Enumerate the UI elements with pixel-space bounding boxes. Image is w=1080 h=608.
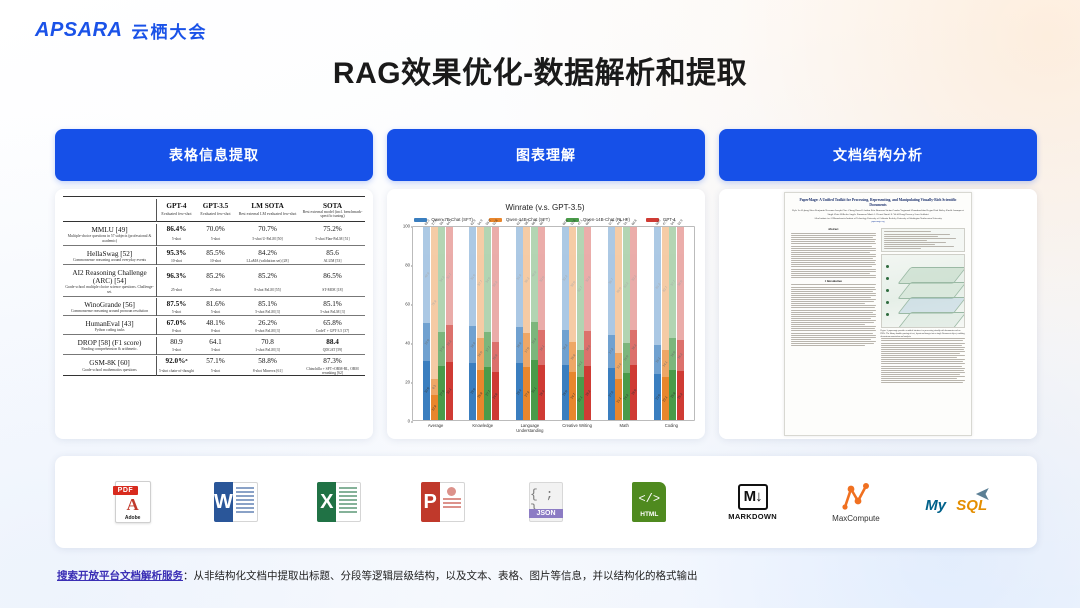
format-mysql[interactable]: My SQL ➤ xyxy=(913,469,1005,535)
bar-3-3: 60.053.818.028.2 xyxy=(584,227,591,420)
seg-win: 28.5 xyxy=(562,365,569,420)
row-label: HellaSwag [52] xyxy=(63,247,157,258)
seg-label: 60.2 xyxy=(623,281,630,288)
row-label: MMLU [49] xyxy=(63,224,157,235)
bar-2-0: 59.454.317.827.9 xyxy=(438,227,445,420)
seg-label: 54.6 xyxy=(485,276,492,283)
maxcompute-label: MaxCompute xyxy=(832,514,880,523)
bar-2-5: 54.957.716.525.8 xyxy=(669,227,676,420)
paper-code-box xyxy=(881,228,966,252)
seg-lose: 63.7 xyxy=(577,227,584,350)
cell-value: 70.8 xyxy=(235,337,300,348)
cell-subtext: 5-shot U-PaLM [50] xyxy=(235,234,300,245)
seg-lose: 53.2 xyxy=(630,227,637,330)
bar-group-5: 50.261.315.123.647.163.714.122.154.957.7… xyxy=(654,227,684,420)
cell-subtext: 0-shot xyxy=(157,328,196,335)
seg-label: 18.1 xyxy=(538,344,545,351)
bar-group-4: 57.555.717.327.044.865.513.421.151.760.2… xyxy=(608,227,638,420)
bar-total-label: 52.8 xyxy=(492,219,499,226)
format-maxcompute[interactable]: MaxCompute xyxy=(810,469,902,535)
supported-formats-strip: PDF A Adobe W X P xyxy=(55,456,1037,548)
seg-label: 29.6 xyxy=(470,388,477,395)
bar-0-3: 60.653.318.228.5 xyxy=(562,227,569,420)
format-powerpoint[interactable]: P xyxy=(397,469,489,535)
mysql-icon: My SQL ➤ xyxy=(925,487,993,517)
seg-win: 28.4 xyxy=(538,365,545,420)
seg-label: 19.2 xyxy=(446,340,453,347)
seg-label: 65.5 xyxy=(616,287,623,294)
bar-3-5: 53.958.516.225.3 xyxy=(677,227,684,420)
seg-label: 58.5 xyxy=(677,280,684,287)
bar-group-3: 60.653.318.228.552.659.515.824.747.163.7… xyxy=(562,227,592,420)
row-description: Grade-school mathematics questions xyxy=(63,367,157,376)
cell-subtext: 5-shot xyxy=(196,234,235,245)
seg-win: 30.6 xyxy=(423,361,430,420)
bar-2-1: 59.054.617.727.7 xyxy=(484,227,491,420)
seg-win: 21.1 xyxy=(615,379,622,420)
seg-tie: 19.2 xyxy=(446,325,453,362)
seg-label: 28.5 xyxy=(562,389,569,396)
seg-label: 21.1 xyxy=(616,396,623,403)
seg-tie: 14.1 xyxy=(662,350,669,377)
word-file-icon: W xyxy=(214,482,258,522)
paper-figure xyxy=(881,254,966,328)
seg-label: 13.4 xyxy=(616,363,623,370)
html-name-label: HTML xyxy=(632,511,666,518)
footer-text: ：从非结构化文档中提取出标题、分段等逻辑层级结构，以及文本、表格、图片等信息，并… xyxy=(183,570,698,582)
seg-win: 12.9 xyxy=(431,395,438,420)
card-body-table: GPT-4 GPT-3.5 LM SOTA SOTA Evaluated few… xyxy=(55,189,373,439)
cell-subtext: 25-shot xyxy=(157,285,196,296)
paper-authors: Kyle Lo Zejiang Shen Benjamin Newman Jos… xyxy=(791,209,965,216)
seg-tie: 17.7 xyxy=(484,332,491,366)
cell-value: 85.2% xyxy=(196,267,235,286)
seg-tie: 16.5 xyxy=(477,338,484,370)
seg-label: 14.1 xyxy=(577,360,584,367)
card-body-chart: Winrate (v.s. GPT-3.5) Qwen-7B-Chat (SFT… xyxy=(387,189,705,439)
seg-win: 31.1 xyxy=(531,360,538,420)
seg-tie: 16.5 xyxy=(669,338,676,370)
format-excel[interactable]: X xyxy=(293,469,385,535)
mysql-my-label: My xyxy=(925,497,946,514)
col-sub-3: Best external model (incl. benchmark-spe… xyxy=(300,210,365,222)
seg-label: 63.7 xyxy=(577,285,584,292)
excel-letter: X xyxy=(317,482,336,522)
seg-label: 22.1 xyxy=(662,395,669,402)
seg-win: 27.0 xyxy=(608,368,615,420)
abstract-text-lines xyxy=(791,233,876,278)
seg-label: 30.1 xyxy=(446,387,453,394)
col-sub-1: Evaluated few-shot xyxy=(196,210,235,222)
seg-label: 12.9 xyxy=(431,404,438,411)
seg-tie: 15.5 xyxy=(623,343,630,373)
benchmark-table-body: MMLU [49]86.4%70.0%70.7%75.2%Multiple-ch… xyxy=(63,224,365,378)
card-table-extraction: 表格信息提取 GPT-4 GPT-3.5 LM SOTA SOTA xyxy=(55,129,373,439)
cell-subtext: 5-shot Flan-PaLM [51] xyxy=(300,234,365,245)
table-row: DROP [58] (F1 score)80.964.170.888.4 xyxy=(63,337,365,348)
bar-0-5: 50.261.315.123.6 xyxy=(654,227,661,420)
bar-1-3: 52.659.515.824.7 xyxy=(569,227,576,420)
powerpoint-file-icon: P xyxy=(421,482,465,522)
seg-lose: 51.9 xyxy=(516,227,523,327)
cell-subtext: 5-shot xyxy=(196,367,235,376)
seg-lose: 63.7 xyxy=(662,227,669,350)
seg-label: 78.8 xyxy=(431,299,438,306)
cell-value: 95.3% xyxy=(157,247,196,258)
seg-label: 51.6 xyxy=(470,273,477,280)
table-row: WinoGrande [56]87.5%81.6%85.1%85.1% xyxy=(63,298,365,309)
bar-total-label: 57.5 xyxy=(608,219,615,226)
seg-label: 29.4 xyxy=(516,388,523,395)
format-markdown[interactable]: M↓ MARKDOWN xyxy=(707,469,799,535)
seg-label: 8.3 xyxy=(431,384,437,390)
cell-subtext: 0-shot PaLM [3] xyxy=(235,328,300,335)
cell-value: 86.4% xyxy=(157,224,196,235)
seg-label: 17.5 xyxy=(523,347,530,354)
y-tick-40: 40 xyxy=(405,341,410,346)
chart-plot-area: 020406080100 65.249.819.630.627.578.88.3… xyxy=(395,226,695,421)
row-description: Reading comprehension & arithmetic. xyxy=(63,347,157,354)
code-box-lines xyxy=(884,231,963,249)
cell-value: 70.0% xyxy=(196,224,235,235)
format-json[interactable]: { ; } JSON xyxy=(500,469,592,535)
figure-caption: Figure 1: papermage provides a unified i… xyxy=(881,330,966,338)
seg-label: 55.2 xyxy=(523,277,530,284)
format-html[interactable]: </> HTML xyxy=(603,469,695,535)
intro-heading: 1 Introduction xyxy=(791,280,876,283)
row-description: Grade-school multiple choice science que… xyxy=(63,285,157,296)
cell-value: 65.8% xyxy=(300,318,365,329)
seg-lose: 51.6 xyxy=(469,227,476,326)
right-column-lines xyxy=(881,338,966,383)
winrate-chart-image: Winrate (v.s. GPT-3.5) Qwen-7B-Chat (SFT… xyxy=(387,189,705,439)
row-description: Python coding tasks xyxy=(63,328,157,335)
cell-value: 96.3% xyxy=(157,267,196,286)
bar-0-2: 62.551.918.829.4 xyxy=(516,227,523,420)
seg-label: 15.1 xyxy=(654,356,661,363)
cell-subtext: ST-MOE [18] xyxy=(300,285,365,296)
cell-subtext: 8-shot PaLM [55] xyxy=(235,285,300,296)
powerpoint-slide xyxy=(440,482,465,522)
seg-lose: 55.7 xyxy=(608,227,615,335)
cell-subtext: 5-shot xyxy=(196,309,235,316)
paper-left-column: Abstract 1 Introduction xyxy=(791,226,876,383)
card-heading-table: 表格信息提取 xyxy=(55,129,373,181)
seg-label: 27.9 xyxy=(438,389,445,396)
seg-label: 18.8 xyxy=(516,342,523,349)
bar-2-2: 66.249.019.931.1 xyxy=(531,227,538,420)
bar-total-label: 54.9 xyxy=(477,219,484,226)
seg-win: 29.6 xyxy=(469,363,476,420)
cell-subtext: 25-shot xyxy=(196,285,235,296)
cell-subtext: ALUM [53] xyxy=(300,258,365,265)
pdf-vendor-label: Adobe xyxy=(116,515,150,521)
cell-value: 58.8% xyxy=(235,356,300,367)
chart-bars-panel: 65.249.819.630.627.578.88.312.959.454.31… xyxy=(412,226,695,421)
chart-x-axis: AverageKnowledgeLanguage UnderstandingCr… xyxy=(395,423,695,433)
cell-value: 75.2% xyxy=(300,224,365,235)
seg-label: 31.1 xyxy=(531,386,538,393)
seg-win: 25.3 xyxy=(677,371,684,420)
row-description: Commonsense reasoning around everyday ev… xyxy=(63,258,157,265)
cell-subtext: 5-shot chain-of-thought xyxy=(157,367,196,376)
seg-label: 22.1 xyxy=(577,395,584,402)
cell-subtext: 5-shot PaLM [3] xyxy=(235,309,300,316)
seg-label: 59.5 xyxy=(569,281,576,288)
seg-label: 16.5 xyxy=(669,351,676,358)
json-file-icon: { ; } JSON xyxy=(529,482,563,522)
seg-win: 24.3 xyxy=(623,373,630,420)
seg-label: 27.0 xyxy=(608,390,615,397)
seg-win: 28.2 xyxy=(584,366,591,420)
chart-y-axis: 020406080100 xyxy=(395,226,412,421)
row-label: AI2 Reasoning Challenge (ARC) [54] xyxy=(63,267,157,286)
table-row: HumanEval [43]67.0%48.1%26.2%65.8% xyxy=(63,318,365,329)
row-label: HumanEval [43] xyxy=(63,318,157,329)
bar-group-0: 65.249.819.630.627.578.88.312.959.454.31… xyxy=(423,227,453,420)
seg-label: 54.3 xyxy=(438,276,445,283)
seg-lose: 53.8 xyxy=(584,227,591,331)
seg-tie: 18.2 xyxy=(562,330,569,365)
figure-dot-column xyxy=(886,265,889,316)
seg-tie: 18.8 xyxy=(516,327,523,363)
cell-value: 81.6% xyxy=(196,298,235,309)
table-row-sub: Grade-school mathematics questions5-shot… xyxy=(63,367,365,376)
seg-label: 49.8 xyxy=(423,271,430,278)
seg-tie: 13.4 xyxy=(615,353,622,379)
cell-subtext: 0-shot xyxy=(196,328,235,335)
seg-tie: 19.9 xyxy=(531,322,538,360)
table-row: HellaSwag [52]95.3%85.5%84.2%85.6 xyxy=(63,247,365,258)
seg-lose: 65.5 xyxy=(615,227,622,353)
cell-value: 64.1 xyxy=(196,337,235,348)
seg-label: 28.2 xyxy=(584,389,591,396)
intro-text-lines xyxy=(791,284,876,346)
table-row-sub: Commonsense reasoning around everyday ev… xyxy=(63,258,365,265)
table-row-sub: Reading comprehension & arithmetic.3-sho… xyxy=(63,347,365,354)
table-header-sub-row: Evaluated few-shot Evaluated few-shot Be… xyxy=(63,210,365,222)
table-row-sub: Multiple-choice questions in 57 subjects… xyxy=(63,234,365,245)
footer-link[interactable]: 搜索开放平台文档解析服务 xyxy=(57,570,183,582)
bar-total-label: 47.1 xyxy=(577,219,584,226)
seg-label: 53.8 xyxy=(584,275,591,282)
seg-tie: 16.2 xyxy=(677,340,684,371)
seg-lose: 53.3 xyxy=(562,227,569,330)
seg-lose: 58.5 xyxy=(677,227,684,340)
seg-win: 23.6 xyxy=(654,374,661,420)
seg-label: 15.8 xyxy=(569,353,576,360)
mysql-dolphin-glyph: ➤ xyxy=(975,483,991,506)
seg-label: 18.2 xyxy=(562,344,569,351)
seg-win: 24.8 xyxy=(492,372,499,420)
seg-label: 57.7 xyxy=(669,279,676,286)
page-title: RAG效果优化-数据解析和提取 xyxy=(0,48,1080,92)
footer-caption: 搜索开放平台文档解析服务：从非结构化文档中提取出标题、分段等逻辑层级结构，以及文… xyxy=(57,568,698,583)
html-glyph: </> xyxy=(638,492,660,506)
seg-tie: 8.3 xyxy=(431,379,438,395)
format-word[interactable]: W xyxy=(190,469,282,535)
seg-label: 17.7 xyxy=(485,346,492,353)
cell-subtext: 3-shot xyxy=(196,347,235,354)
cell-value: 85.1% xyxy=(300,298,365,309)
seg-tie: 17.5 xyxy=(523,333,530,367)
markdown-file-icon: M↓ MARKDOWN xyxy=(728,484,777,521)
cell-value: 70.7% xyxy=(235,224,300,235)
paper-right-column: Figure 1: papermage provides a unified i… xyxy=(881,226,966,383)
row-label: DROP [58] (F1 score) xyxy=(63,337,157,348)
bar-1-5: 47.163.714.122.1 xyxy=(662,227,669,420)
seg-label: 18.9 xyxy=(470,341,477,348)
card-body-document: PaperMage: A Unified Toolkit for Process… xyxy=(719,189,1037,439)
x-tick-3: Creative Writing xyxy=(554,423,601,433)
cards-row: 表格信息提取 GPT-4 GPT-3.5 LM SOTA SOTA xyxy=(55,129,1037,439)
seg-tie: 14.1 xyxy=(577,350,584,377)
seg-lose: 54.6 xyxy=(484,227,491,332)
bar-3-2: 60.453.518.128.4 xyxy=(538,227,545,420)
paper-page-image: PaperMage: A Unified Toolkit for Process… xyxy=(719,189,1037,439)
bar-total-label: 47.1 xyxy=(662,219,669,226)
seg-tie: 18.2 xyxy=(630,330,637,365)
html-file-icon: </> HTML xyxy=(632,482,666,522)
seg-label: 27.4 xyxy=(523,390,530,397)
col-header-3: SOTA xyxy=(300,199,365,210)
cell-subtext: 5-shot PaLM [3] xyxy=(300,309,365,316)
seg-label: 24.7 xyxy=(569,393,576,400)
bar-total-label: 62.5 xyxy=(516,219,523,226)
seg-lose: 78.8 xyxy=(431,227,438,379)
brand-logo: APSARA 云栖大会 xyxy=(35,18,207,43)
seg-label: 59.3 xyxy=(492,281,499,288)
seg-tie: 18.9 xyxy=(469,326,476,362)
bar-0-0: 65.249.819.630.6 xyxy=(423,227,430,420)
seg-label: 53.3 xyxy=(562,275,569,282)
seg-label: 25.8 xyxy=(669,391,676,398)
seg-label: 50.7 xyxy=(446,272,453,279)
seg-label: 25.3 xyxy=(677,392,684,399)
row-description: Multiple-choice questions in 57 subjects… xyxy=(63,234,157,245)
cell-subtext: 10-shot xyxy=(196,258,235,265)
seg-lose: 50.7 xyxy=(446,227,453,325)
bar-group-2: 62.551.918.829.458.255.217.527.466.249.0… xyxy=(516,227,546,420)
seg-win: 22.1 xyxy=(577,377,584,420)
bar-3-1: 52.859.315.824.8 xyxy=(492,227,499,420)
x-tick-5: Coding xyxy=(648,423,695,433)
excel-file-icon: X xyxy=(317,482,361,522)
paper-link: papermage.org xyxy=(791,221,965,223)
col-sub-0: Evaluated few-shot xyxy=(157,210,196,222)
bar-0-1: 62.951.618.929.6 xyxy=(469,227,476,420)
cell-value: 80.9 xyxy=(157,337,196,348)
x-tick-0: Average xyxy=(412,423,459,433)
bar-total-label: 51.7 xyxy=(623,219,630,226)
seg-tie: 18.1 xyxy=(538,330,545,365)
y-tick-20: 20 xyxy=(405,380,410,385)
bar-1-1: 54.957.716.525.8 xyxy=(477,227,484,420)
bar-2-3: 47.163.714.122.1 xyxy=(577,227,584,420)
bar-1-0: 27.578.88.312.9 xyxy=(431,227,438,420)
bar-1-4: 44.865.513.421.1 xyxy=(615,227,622,420)
seg-lose: 59.5 xyxy=(569,227,576,342)
cell-value: 85.5% xyxy=(196,247,235,258)
table-row-sub: Grade-school multiple choice science que… xyxy=(63,285,365,296)
seg-tie: 15.1 xyxy=(654,345,661,374)
markdown-name-label: MARKDOWN xyxy=(728,512,777,521)
seg-win: 30.1 xyxy=(446,362,453,420)
pdf-file-icon: PDF A Adobe xyxy=(115,481,151,523)
col-header-2: LM SOTA xyxy=(235,199,300,210)
format-pdf[interactable]: PDF A Adobe xyxy=(87,469,179,535)
seg-lose: 59.3 xyxy=(492,227,499,341)
chart-title: Winrate (v.s. GPT-3.5) xyxy=(395,203,695,212)
cell-subtext: 8-shot Minerva [61] xyxy=(235,367,300,376)
maxcompute-icon xyxy=(839,481,873,511)
slide-root: APSARA 云栖大会 RAG效果优化-数据解析和提取 表格信息提取 GPT-4… xyxy=(0,0,1080,608)
seg-lose: 49.8 xyxy=(423,227,430,323)
seg-label: 53.5 xyxy=(538,275,545,282)
bar-1-2: 58.255.217.527.4 xyxy=(523,227,530,420)
powerpoint-letter: P xyxy=(421,482,440,522)
cell-value: 67.0% xyxy=(157,318,196,329)
x-tick-2: Language Understanding xyxy=(506,423,553,433)
seg-label: 16.5 xyxy=(477,351,484,358)
card-chart-understanding: 图表理解 Winrate (v.s. GPT-3.5) Qwen-7B-Chat… xyxy=(387,129,705,439)
seg-lose: 57.7 xyxy=(477,227,484,338)
seg-tie: 17.3 xyxy=(608,335,615,368)
bar-total-label: 53.9 xyxy=(677,219,684,226)
maxcompute-glyph xyxy=(839,481,873,511)
seg-win: 24.7 xyxy=(569,372,576,420)
bar-total-label: 66.2 xyxy=(531,219,538,226)
cell-subtext: QDGAT [59] xyxy=(300,347,365,354)
y-tick-0: 0 xyxy=(408,419,410,424)
x-tick-4: Math xyxy=(601,423,648,433)
cell-value: 87.3% xyxy=(300,356,365,367)
bar-total-label: 27.5 xyxy=(431,219,438,226)
seg-label: 19.6 xyxy=(423,338,430,345)
seg-label: 17.8 xyxy=(438,345,445,352)
table-row-sub: Commonsense reasoning around pronoun res… xyxy=(63,309,365,316)
seg-lose: 60.2 xyxy=(623,227,630,343)
bar-0-4: 57.555.717.327.0 xyxy=(608,227,615,420)
x-tick-1: Knowledge xyxy=(459,423,506,433)
benchmark-table-image: GPT-4 GPT-3.5 LM SOTA SOTA Evaluated few… xyxy=(55,189,373,439)
card-heading-document: 文档结构分析 xyxy=(719,129,1037,181)
word-lines xyxy=(233,482,258,522)
seg-label: 18.2 xyxy=(631,344,638,351)
seg-label: 15.5 xyxy=(623,355,630,362)
cell-value: 86.5% xyxy=(300,267,365,286)
seg-win: 28.6 xyxy=(630,365,637,420)
seg-win: 25.8 xyxy=(669,370,676,420)
table-row: GSM-8K [60]92.0%ᵃ57.1%58.8%87.3% xyxy=(63,356,365,367)
cell-subtext: LLaMA (validation set) [28] xyxy=(235,258,300,265)
seg-tie: 15.8 xyxy=(569,342,576,372)
seg-tie: 19.6 xyxy=(423,323,430,361)
abstract-heading: Abstract xyxy=(791,228,876,231)
row-label: GSM-8K [60] xyxy=(63,356,157,367)
row-description: Commonsense reasoning around pronoun res… xyxy=(63,309,157,316)
seg-label: 53.2 xyxy=(631,275,638,282)
col-header-1: GPT-3.5 xyxy=(196,199,235,210)
bar-total-label: 60.6 xyxy=(562,219,569,226)
markdown-glyph: M↓ xyxy=(738,484,768,510)
seg-lose: 54.3 xyxy=(438,227,445,332)
seg-label: 16.2 xyxy=(677,352,684,359)
seg-label: 28.4 xyxy=(538,389,545,396)
seg-label: 25.8 xyxy=(477,391,484,398)
paper-page: PaperMage: A Unified Toolkit for Process… xyxy=(784,192,972,436)
card-document-structure: 文档结构分析 PaperMage: A Unified Toolkit for … xyxy=(719,129,1037,439)
